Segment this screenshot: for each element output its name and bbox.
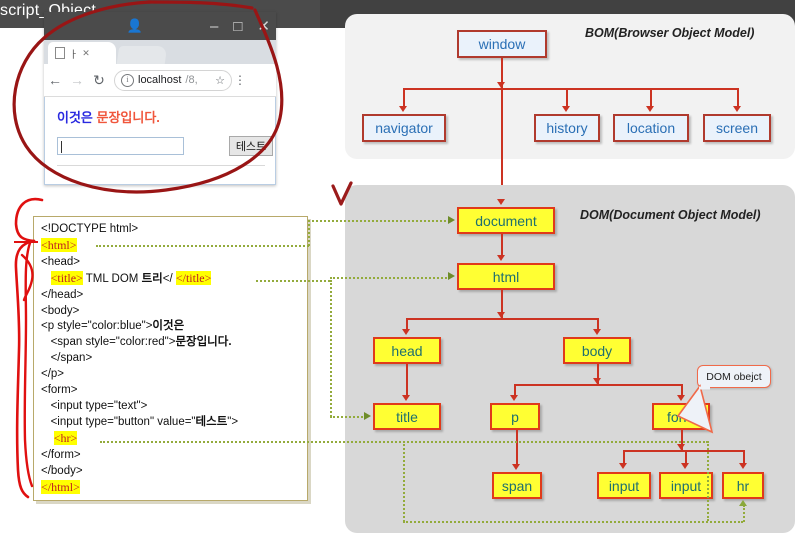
code-line: </p> [41,368,64,380]
bom-node-screen[interactable]: screen [703,114,771,142]
dom-arrow-span [512,464,520,470]
green-line-titleclose-to-title [330,416,366,418]
code-line: <body> [41,305,79,317]
kebab-menu-icon[interactable]: ⋮ [232,73,248,87]
dom-bus-form-children [623,450,743,452]
code-block: <!DOCTYPE html> <html> <head> <title> TM… [33,216,308,501]
bom-line-bus [403,88,738,90]
browser-tab-new[interactable] [117,46,168,64]
tab-close-icon[interactable]: ✕ [82,48,90,59]
url-path: /8, [185,74,197,86]
bom-line-drop-history [566,88,568,107]
dom-arrow-html [497,255,505,261]
minimize-icon[interactable]: – [210,18,218,35]
dom-line-to-input1 [623,450,625,464]
back-arrow-icon[interactable]: ← [44,72,66,88]
dom-node-form[interactable]: form [652,403,710,430]
dom-node-input-2[interactable]: input [659,472,713,499]
page-text-input[interactable] [57,137,184,155]
green-line-hr-riser [707,441,709,521]
screenshot-root: script_Object 👤 – □ ✕ ㅏ ✕ ← → ↻ i [0,0,795,549]
maximize-icon[interactable]: □ [233,18,242,35]
code-line: <p style="color:blue">이것은 [41,320,184,332]
green-line-code-html-riser [308,220,310,246]
dom-node-head[interactable]: head [373,337,441,364]
code-line-html-open: <html> [41,238,77,252]
browser-tabstrip: ㅏ ✕ [44,40,276,64]
dom-node-p[interactable]: p [490,403,540,430]
green-line-html-to-document [308,220,450,222]
code-line: <head> [41,256,80,268]
dom-node-hr[interactable]: hr [722,472,764,499]
code-line: <input type="button" value="테스트"> [51,416,239,428]
dom-node-body[interactable]: body [563,337,631,364]
dom-arrow-p [510,395,518,401]
green-line-titleclose-riser [330,280,332,417]
green-line-hr-bottom [403,521,743,523]
green-line-hr-up [743,505,745,522]
dom-line-to-input2 [685,450,687,464]
bom-node-navigator[interactable]: navigator [362,114,446,142]
dom-arrow-input2 [681,463,689,469]
bom-arrow-location [646,106,654,112]
dom-arrow-body [593,329,601,335]
dom-node-input-1[interactable]: input [597,472,651,499]
dom-panel-label: DOM(Document Object Model) [580,208,761,222]
bom-arrow-screen [733,106,741,112]
bom-line-drop-location [650,88,652,107]
code-line-title-open: <title> [51,271,83,285]
bom-arrow-navigator [399,106,407,112]
code-text: <!DOCTYPE html> <html> <head> <title> TM… [41,222,238,496]
info-circle-icon[interactable]: i [121,74,134,87]
green-arrow-html [448,272,455,280]
page-sentence: 이것은 문장입니다. [57,107,160,126]
dom-arrow-form [677,395,685,401]
dom-node-span[interactable]: span [492,472,542,499]
code-line: <span style="color:red">문장입니다. [51,336,232,348]
browser-window: 👤 – □ ✕ ㅏ ✕ ← → ↻ i localhost/8, ☆ [44,12,276,185]
dom-line-to-hr [743,450,745,464]
code-line: </head> [41,289,83,301]
dom-arrow-document [497,199,505,205]
bom-line-drop-screen [737,88,739,107]
page-file-icon [55,47,65,59]
star-icon[interactable]: ☆ [215,74,225,87]
reload-icon[interactable]: ↻ [88,72,110,89]
window-controls: – □ ✕ [210,12,270,40]
green-arrow-title [364,412,371,420]
url-host: localhost [138,74,181,86]
bom-panel-label: BOM(Browser Object Model) [585,26,754,40]
dom-bus-body-children [514,384,682,386]
dom-line-document-html [501,234,503,256]
dom-arrow-title [402,395,410,401]
user-icon[interactable]: 👤 [124,16,146,36]
bom-arrow-history [562,106,570,112]
bom-line-drop-navigator [403,88,405,107]
code-line: <form> [41,384,77,396]
dom-node-html[interactable]: html [457,263,555,290]
close-icon[interactable]: ✕ [257,17,270,35]
dom-node-document[interactable]: document [457,207,555,234]
page-test-button[interactable]: 테스트 [229,136,273,156]
code-line: <input type="text"> [51,400,148,412]
dom-object-callout: DOM obejct [697,365,771,388]
forward-arrow-icon[interactable]: → [66,72,88,88]
green-line-left-bottom-riser [403,441,405,522]
dom-arrow-head [402,329,410,335]
code-line-html-close: </html> [41,480,80,494]
text-caret [61,141,62,153]
code-line-title-close: </title> [176,271,212,285]
bom-node-window[interactable]: window [457,30,547,58]
code-line: </form> [41,449,81,461]
browser-toolbar: ← → ↻ i localhost/8, ☆ ⋮ [44,64,276,97]
green-line-to-html-node [330,277,450,279]
address-bar[interactable]: i localhost/8, ☆ [114,70,232,91]
browser-titlebar: 👤 – □ ✕ [44,12,276,40]
bom-node-history[interactable]: history [534,114,600,142]
browser-tab-active[interactable]: ㅏ ✕ [48,42,116,64]
page-horizontal-rule [57,165,265,166]
dom-line-p-span [516,430,518,465]
dom-line-head-title [406,364,408,397]
green-line-title-seg [256,280,330,282]
browser-viewport: 이것은 문장입니다. 테스트 [44,97,276,185]
browser-tab-label: ㅏ [69,46,78,61]
bom-node-location[interactable]: location [613,114,689,142]
dom-arrow-input1 [619,463,627,469]
code-line: </body> [41,465,83,477]
green-arrow-hr [739,500,747,506]
dom-bus-html-children [406,318,598,320]
green-line-code-html-seg [96,245,309,247]
dom-arrow-hr [739,463,747,469]
page-text-red: 문장입니다. [97,110,160,125]
code-line: </span> [51,352,93,364]
dom-node-title[interactable]: title [373,403,441,430]
page-text-blue: 이것은 [57,110,97,125]
code-line: <!DOCTYPE html> [41,223,138,235]
green-arrow-document [448,216,455,224]
code-line-hr: <hr> [54,431,78,445]
